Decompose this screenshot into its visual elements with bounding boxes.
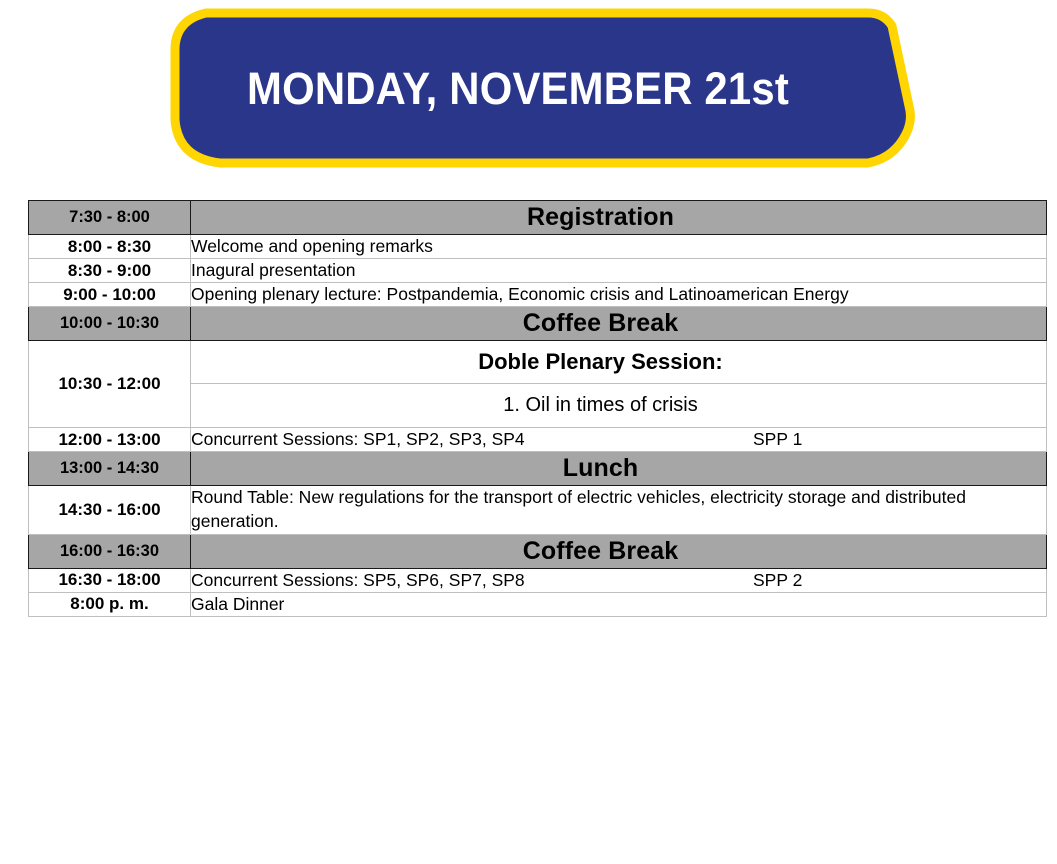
table-row: 16:00 - 16:30 Coffee Break <box>29 534 1047 568</box>
row-content: Welcome and opening remarks <box>191 235 1047 259</box>
row-time: 10:00 - 10:30 <box>29 307 191 341</box>
concurrent-sessions-label: Concurrent Sessions: SP1, SP2, SP3, SP4 <box>191 428 753 451</box>
row-time: 16:00 - 16:30 <box>29 534 191 568</box>
section-title: Registration <box>191 201 1046 234</box>
row-content: Inagural presentation <box>191 259 1047 283</box>
row-time: 13:00 - 14:30 <box>29 452 191 486</box>
table-row: 9:00 - 10:00 Opening plenary lecture: Po… <box>29 283 1047 307</box>
row-content: Concurrent Sessions: SP1, SP2, SP3, SP4 … <box>191 428 1047 452</box>
table-row: 8:30 - 9:00 Inagural presentation <box>29 259 1047 283</box>
row-time: 8:00 p. m. <box>29 592 191 616</box>
table-row: 8:00 p. m. Gala Dinner <box>29 592 1047 616</box>
row-time: 12:00 - 13:00 <box>29 428 191 452</box>
row-content: Registration <box>191 201 1047 235</box>
row-content: Lunch <box>191 452 1047 486</box>
table-row: 16:30 - 18:00 Concurrent Sessions: SP5, … <box>29 568 1047 592</box>
row-content: Round Table: New regulations for the tra… <box>191 486 1047 534</box>
table-row: 13:00 - 14:30 Lunch <box>29 452 1047 486</box>
row-content: Coffee Break <box>191 534 1047 568</box>
spp-label: SPP 2 <box>753 569 802 592</box>
section-title: Lunch <box>191 452 1046 485</box>
row-time: 16:30 - 18:00 <box>29 568 191 592</box>
row-time: 8:00 - 8:30 <box>29 235 191 259</box>
row-content: Concurrent Sessions: SP5, SP6, SP7, SP8 … <box>191 568 1047 592</box>
row-time: 8:30 - 9:00 <box>29 259 191 283</box>
table-row: 10:00 - 10:30 Coffee Break <box>29 307 1047 341</box>
session-item: 1. Oil in times of crisis <box>191 384 1046 427</box>
concurrent-sessions-label: Concurrent Sessions: SP5, SP6, SP7, SP8 <box>191 569 753 592</box>
agenda-table-body: 7:30 - 8:00 Registration 8:00 - 8:30 Wel… <box>29 201 1047 617</box>
table-row: 12:00 - 13:00 Concurrent Sessions: SP1, … <box>29 428 1047 452</box>
spp-label: SPP 1 <box>753 428 802 451</box>
section-title: Coffee Break <box>191 307 1046 340</box>
session-heading: Doble Plenary Session: <box>191 341 1046 384</box>
page-title: MONDAY, NOVEMBER 21st <box>193 8 844 170</box>
row-content: Gala Dinner <box>191 592 1047 616</box>
agenda-table: 7:30 - 8:00 Registration 8:00 - 8:30 Wel… <box>28 200 1047 617</box>
table-row: 8:00 - 8:30 Welcome and opening remarks <box>29 235 1047 259</box>
row-time: 9:00 - 10:00 <box>29 283 191 307</box>
section-title: Coffee Break <box>191 535 1046 568</box>
table-row: 10:30 - 12:00 Doble Plenary Session: 1. … <box>29 341 1047 428</box>
row-time: 7:30 - 8:00 <box>29 201 191 235</box>
table-row: 7:30 - 8:00 Registration <box>29 201 1047 235</box>
row-content: Doble Plenary Session: 1. Oil in times o… <box>191 341 1047 428</box>
row-time: 14:30 - 16:00 <box>29 486 191 534</box>
row-content: Coffee Break <box>191 307 1047 341</box>
row-time: 10:30 - 12:00 <box>29 341 191 428</box>
day-header-banner: MONDAY, NOVEMBER 21st <box>168 8 916 170</box>
row-content: Opening plenary lecture: Postpandemia, E… <box>191 283 1047 307</box>
table-row: 14:30 - 16:00 Round Table: New regulatio… <box>29 486 1047 534</box>
